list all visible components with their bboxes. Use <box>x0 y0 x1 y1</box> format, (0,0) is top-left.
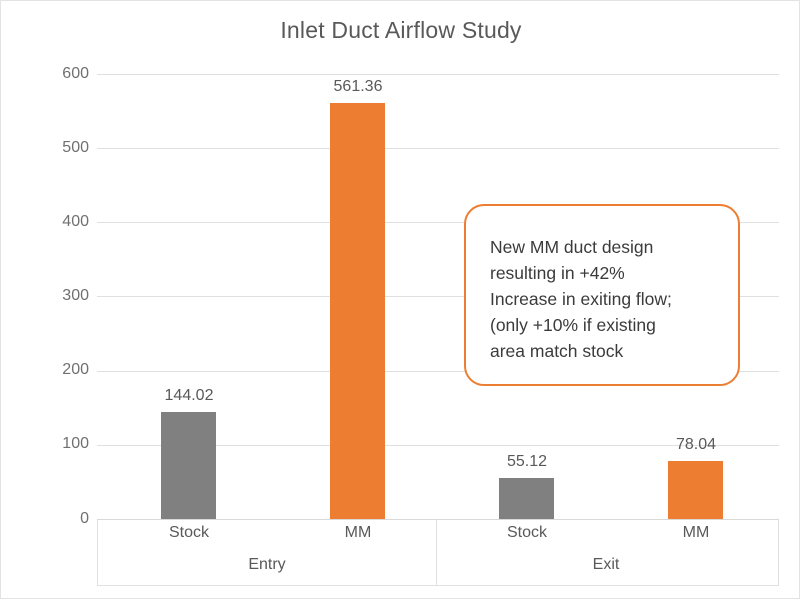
gridline-600 <box>97 74 779 75</box>
gridline-500 <box>97 148 779 149</box>
group-label-entry: Entry <box>137 556 397 574</box>
cat-label-exit-mm: MM <box>616 524 776 542</box>
y-tick-100: 100 <box>41 436 89 452</box>
y-tick-600: 600 <box>41 66 89 82</box>
y-tick-300: 300 <box>41 288 89 304</box>
group-label-exit: Exit <box>476 556 736 574</box>
bar-label-entry-mm: 561.36 <box>308 78 408 96</box>
y-tick-0: 0 <box>41 511 89 527</box>
cat-label-entry-mm: MM <box>278 524 438 542</box>
chart-container: Inlet Duct Airflow Study Flow Rate (CFM)… <box>0 0 800 599</box>
bar-entry-mm[interactable] <box>330 103 385 519</box>
cat-label-exit-stock: Stock <box>447 524 607 542</box>
cat-label-entry-stock: Stock <box>109 524 269 542</box>
y-tick-500: 500 <box>41 140 89 156</box>
chart-title: Inlet Duct Airflow Study <box>1 17 800 44</box>
mm-duct-design-callout[interactable]: New MM duct design resulting in +42% Inc… <box>464 204 740 386</box>
y-axis-tick-labels: 600 500 400 300 200 100 0 <box>41 1 89 599</box>
bar-label-entry-stock: 144.02 <box>139 387 239 405</box>
y-tick-200: 200 <box>41 362 89 378</box>
bar-entry-stock[interactable] <box>161 412 216 519</box>
bar-label-exit-stock: 55.12 <box>477 453 577 471</box>
y-tick-400: 400 <box>41 214 89 230</box>
bar-exit-stock[interactable] <box>499 478 554 519</box>
bar-exit-mm[interactable] <box>668 461 723 519</box>
callout-text: New MM duct design resulting in +42% Inc… <box>490 234 722 364</box>
bar-label-exit-mm: 78.04 <box>646 436 746 454</box>
category-axis: Stock MM Stock MM Entry Exit <box>97 520 779 586</box>
